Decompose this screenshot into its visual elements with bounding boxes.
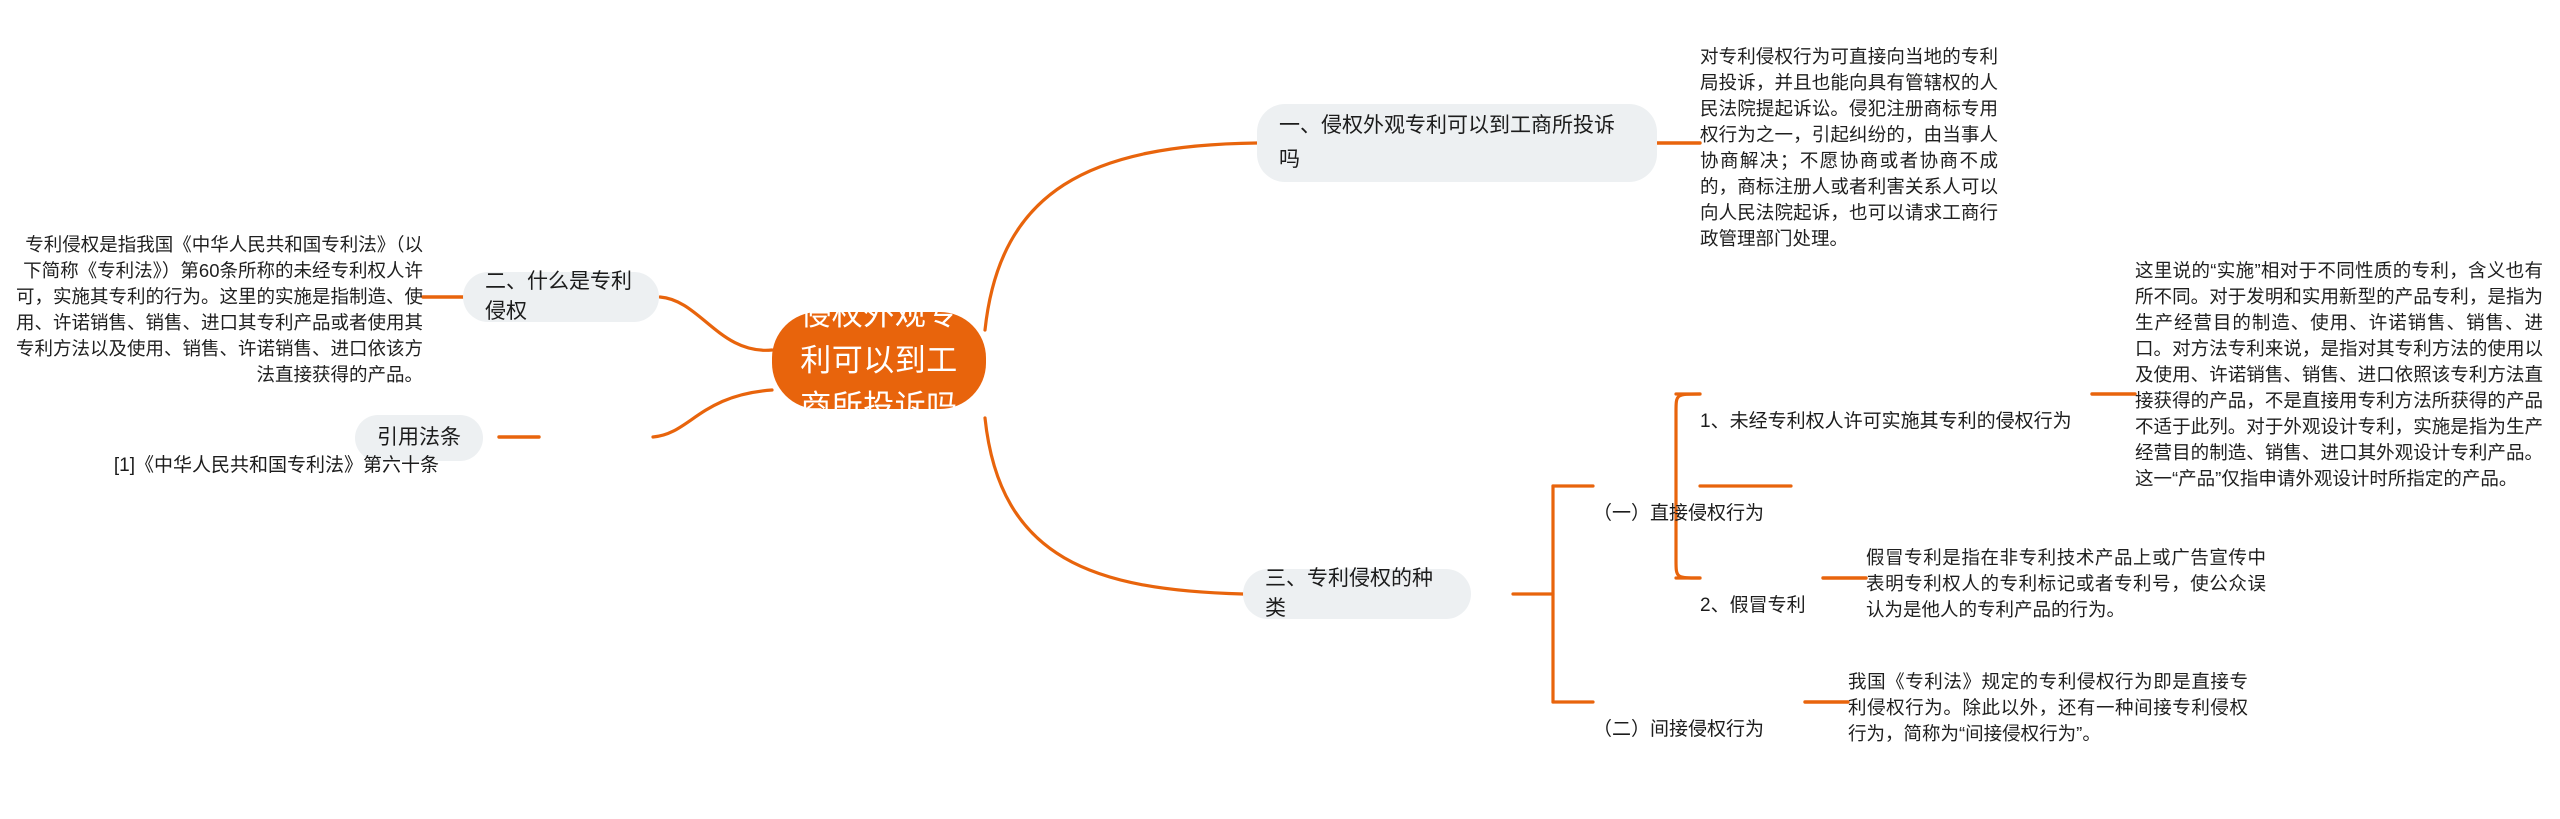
detail-branch2: 专利侵权是指我国《中华人民共和国专利法》（以下简称《专利法》）第60条所称的未经… — [15, 232, 423, 388]
node-branch2-label: 二、什么是专利侵权 — [485, 267, 637, 327]
node-branch1[interactable]: 一、侵权外观专利可以到工商所投诉吗 — [1257, 104, 1657, 182]
detail-branch4-child2: 我国《专利法》规定的专利侵权行为即是直接专利侵权行为。除此以外，还有一种间接专利… — [1848, 669, 2248, 747]
root-node[interactable]: 侵权外观专利可以到工商所投诉吗 — [772, 312, 986, 409]
detail-branch2-text: 专利侵权是指我国《中华人民共和国专利法》（以下简称《专利法》）第60条所称的未经… — [16, 234, 423, 385]
wire-root-to-branch3 — [653, 390, 772, 437]
root-node-label: 侵权外观专利可以到工商所投诉吗 — [798, 292, 960, 430]
detail-branch3-text: [1]《中华人民共和国专利法》第六十条 — [114, 455, 439, 476]
wire-root-to-branch4 — [985, 418, 1243, 594]
mindmap-canvas: 侵权外观专利可以到工商所投诉吗 一、侵权外观专利可以到工商所投诉吗 对专利侵权行… — [0, 0, 2560, 819]
node-branch4-child1-leaf2-label: 2、假冒专利 — [1700, 595, 1806, 616]
detail-branch4-child2-text: 我国《专利法》规定的专利侵权行为即是直接专利侵权行为。除此以外，还有一种间接专利… — [1848, 671, 2248, 744]
node-branch4-child1[interactable]: （一）直接侵权行为 — [1593, 472, 1793, 528]
detail-branch4-child1-leaf2: 假冒专利是指在非专利技术产品上或广告宣传中表明专利权人的专利标记或者专利号，使公… — [1866, 545, 2266, 623]
node-branch4[interactable]: 三、专利侵权的种类 — [1243, 569, 1471, 619]
node-branch4-label: 三、专利侵权的种类 — [1265, 564, 1449, 624]
wire-root-to-branch1 — [985, 143, 1257, 330]
node-branch4-child2[interactable]: （二）间接侵权行为 — [1593, 688, 1793, 744]
node-branch4-child1-leaf1-label: 1、未经专利权人许可实施其专利的侵权行为 — [1700, 411, 2072, 432]
node-branch2[interactable]: 二、什么是专利侵权 — [463, 272, 659, 322]
detail-branch1-text: 对专利侵权行为可直接向当地的专利局投诉，并且也能向具有管辖权的人民法院提起诉讼。… — [1700, 46, 1998, 249]
detail-branch4-child1-leaf1-text: 这里说的“实施”相对于不同性质的专利，含义也有所不同。对于发明和实用新型的产品专… — [2135, 260, 2543, 489]
node-branch4-child1-label: （一）直接侵权行为 — [1593, 503, 1764, 524]
wire-root-to-branch2 — [660, 297, 772, 350]
node-branch4-child1-leaf2[interactable]: 2、假冒专利 — [1700, 564, 1850, 620]
detail-branch3: [1]《中华人民共和国专利法》第六十条 — [60, 424, 439, 480]
node-branch1-label: 一、侵权外观专利可以到工商所投诉吗 — [1279, 109, 1635, 177]
node-branch4-child1-leaf1[interactable]: 1、未经专利权人许可实施其专利的侵权行为 — [1700, 380, 2100, 436]
detail-branch4-child1-leaf2-text: 假冒专利是指在非专利技术产品上或广告宣传中表明专利权人的专利标记或者专利号，使公… — [1866, 547, 2266, 620]
detail-branch4-child1-leaf1: 这里说的“实施”相对于不同性质的专利，含义也有所不同。对于发明和实用新型的产品专… — [2135, 258, 2543, 492]
node-branch4-child2-label: （二）间接侵权行为 — [1593, 719, 1764, 740]
detail-branch1: 对专利侵权行为可直接向当地的专利局投诉，并且也能向具有管辖权的人民法院提起诉讼。… — [1700, 44, 1998, 252]
